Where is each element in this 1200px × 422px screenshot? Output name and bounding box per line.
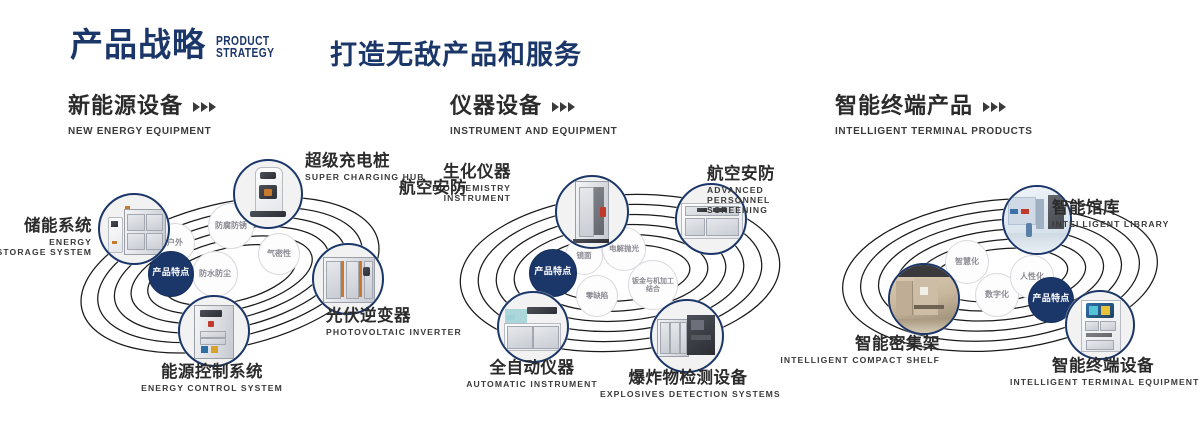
label-cn: 智能密集架 xyxy=(768,335,940,353)
node-energy-storage-system[interactable] xyxy=(98,193,170,265)
label-intelligent-terminal-equipment: 智能终端设备 INTELLIGENT TERMINAL EQUIPMENT xyxy=(1010,357,1196,388)
label-cn: 航空安防 xyxy=(707,165,827,183)
biochemistry-scanner-icon xyxy=(557,177,627,247)
label-advanced-personnel-screening: 航空安防 ADVANCED PERSONNEL SCREENING xyxy=(707,165,827,215)
section-title-en: NEW ENERGY EQUIPMENT xyxy=(68,125,211,137)
label-en: INTELLIGENT TERMINAL EQUIPMENT xyxy=(1010,378,1196,388)
control-cabinet-icon xyxy=(180,297,248,365)
section-title-cn: 新能源设备 xyxy=(68,96,183,118)
node-biochemistry-instrument[interactable] xyxy=(555,175,629,249)
pv-inverter-cabinet-icon xyxy=(314,245,382,313)
charging-pile-icon xyxy=(235,161,301,227)
label-en: AUTOMATIC INSTRUMENT xyxy=(447,380,617,390)
chevron-right-icon xyxy=(552,102,575,112)
node-energy-control-system[interactable] xyxy=(178,295,250,367)
label-energy-control-system: 能源控制系统 ENERGY CONTROL SYSTEM xyxy=(122,363,302,394)
page-title: 产品战略 PRODUCT STRATEGY xyxy=(70,28,287,61)
label-cn: 储能系统 xyxy=(0,217,92,235)
page-slogan: 打造无敌产品和服务 xyxy=(330,33,582,72)
section-heading-intelligent-terminal: 智能终端产品 INTELLIGENT TERMINAL PRODUCTS xyxy=(835,96,1043,137)
label-en: ENERGY STORAGE SYSTEM xyxy=(0,238,92,257)
label-intelligent-library: 智能馆库 INTELLIGENT LIBRARY xyxy=(1052,199,1170,230)
energy-storage-cabinet-icon xyxy=(100,195,168,263)
label-en: ADVANCED PERSONNEL SCREENING xyxy=(707,186,827,215)
node-intelligent-compact-shelf[interactable] xyxy=(888,263,960,335)
feature-bubble: 防水防尘 xyxy=(192,251,238,297)
cluster-new-energy: 户外 防腐防锈 防水防尘 气密性 产品特点 储能系统 ENERGY STORAG… xyxy=(40,155,420,390)
label-explosives-detection-systems: 爆炸物检测设备 EXPLOSIVES DETECTION SYSTEMS xyxy=(600,369,776,400)
node-automatic-instrument[interactable] xyxy=(497,291,569,363)
automatic-analyzer-icon xyxy=(499,293,567,361)
node-explosives-detection-systems[interactable] xyxy=(650,299,724,373)
section-title-cn: 仪器设备 xyxy=(450,96,542,118)
label-cn: 航空安防 xyxy=(395,179,467,197)
chevron-right-icon xyxy=(983,102,1006,112)
page-title-en: PRODUCT STRATEGY xyxy=(216,35,274,59)
label-automatic-instrument: 全自动仪器 AUTOMATIC INSTRUMENT xyxy=(447,359,617,390)
label-energy-storage-system: 储能系统 ENERGY STORAGE SYSTEM xyxy=(0,217,92,258)
label-intelligent-compact-shelf: 智能密集架 INTELLIGENT COMPACT SHELF xyxy=(768,335,940,366)
label-en: EXPLOSIVES DETECTION SYSTEMS xyxy=(600,390,776,400)
label-cn: 智能终端设备 xyxy=(1010,357,1196,375)
label-cn: 能源控制系统 xyxy=(122,363,302,381)
section-title-en: INTELLIGENT TERMINAL PRODUCTS xyxy=(835,125,1033,137)
cluster-intelligent-terminal: 智慧化 数字化 人性化 产品特点 智能馆库 INTELLIGENT LIBRAR… xyxy=(820,155,1200,395)
section-heading-new-energy: 新能源设备 NEW ENERGY EQUIPMENT xyxy=(68,96,219,137)
feature-bubble: 气密性 xyxy=(258,233,300,275)
page-title-en-line2: STRATEGY xyxy=(216,47,274,59)
label-cn: 爆炸物检测设备 xyxy=(600,369,776,387)
product-features-badge: 产品特点 xyxy=(529,249,577,297)
section-title-cn: 智能终端产品 xyxy=(835,96,973,118)
node-intelligent-terminal-equipment[interactable] xyxy=(1065,290,1135,360)
page-title-cn: 产品战略 xyxy=(70,28,206,61)
label-en: INTELLIGENT COMPACT SHELF xyxy=(768,356,940,366)
self-service-kiosk-icon xyxy=(1067,292,1133,358)
label-aviation-security: 航空安防 xyxy=(395,179,467,197)
section-title-en: INSTRUMENT AND EQUIPMENT xyxy=(450,125,617,137)
explosive-detector-icon xyxy=(652,301,722,371)
feature-bubble: 零缺陷 xyxy=(576,275,618,317)
node-super-charging-hub[interactable] xyxy=(233,159,303,229)
label-en: ENERGY CONTROL SYSTEM xyxy=(122,384,302,394)
chevron-right-icon xyxy=(193,102,216,112)
label-cn: 智能馆库 xyxy=(1052,199,1170,217)
cluster-instrument: 镜面 电解抛光 零缺陷 钣金与机加工结合 产品特点 生化仪器 BIOCHEMIS… xyxy=(425,155,815,390)
label-cn: 全自动仪器 xyxy=(447,359,617,377)
compact-shelf-icon xyxy=(890,265,958,333)
node-photovoltaic-inverter[interactable] xyxy=(312,243,384,315)
section-heading-instrument: 仪器设备 INSTRUMENT AND EQUIPMENT xyxy=(450,96,626,137)
label-en: INTELLIGENT LIBRARY xyxy=(1052,220,1170,230)
poster-canvas: 产品战略 PRODUCT STRATEGY 打造无敌产品和服务 新能源设备 NE… xyxy=(0,0,1200,422)
